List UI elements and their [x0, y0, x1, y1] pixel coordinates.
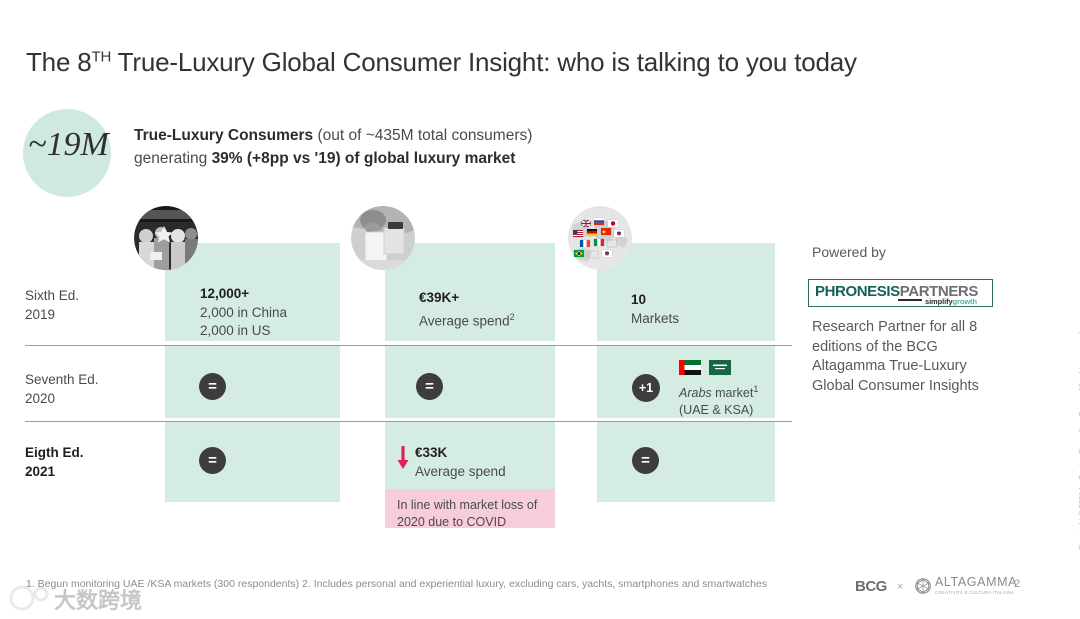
- cell-subline-1: Average spend: [415, 464, 506, 479]
- cell-subline-1: 2,000 in China: [200, 305, 287, 320]
- altagamma-logo: ALTAGAMMA CREATIVITÀ E CULTURA ITALIANA: [915, 576, 1017, 595]
- hero-line-1: True-Luxury Consumers (out of ~435M tota…: [134, 124, 694, 147]
- row-label-seventh-edition: Seventh Ed. 2020: [25, 370, 160, 408]
- cell-r1c2-average-spend: €39K+ Average spend2: [419, 289, 515, 331]
- hero-line-2-bold: 39% (+8pp vs '19) of global luxury marke…: [212, 150, 516, 167]
- arabs-countries: (UAE & KSA): [679, 402, 758, 419]
- page-title: The 8TH True-Luxury Global Consumer Insi…: [26, 47, 857, 78]
- row-label-line2: 2021: [25, 462, 160, 481]
- hero-value: ~19M: [6, 126, 131, 164]
- cell-subline-2: 2,000 in US: [200, 323, 271, 338]
- shopping-bags-photo-icon: [351, 206, 415, 270]
- hero-line-1-rest: (out of ~435M total consumers): [313, 127, 532, 144]
- equal-badge-r2c2: =: [416, 373, 443, 400]
- arabs-word: Arabs: [679, 386, 712, 400]
- row-label-sixth-edition: Sixth Ed. 2019: [25, 286, 160, 324]
- cell-block-r2c2: [385, 345, 555, 418]
- cell-r3c2-average-spend: €33K Average spend: [415, 444, 506, 481]
- footnote-marker: 2: [510, 312, 515, 322]
- tagline-simplify: simplify: [925, 297, 953, 306]
- page-number: 2: [1014, 578, 1020, 590]
- slide-root: The 8TH True-Luxury Global Consumer Insi…: [0, 0, 1080, 616]
- people-photo-icon: [134, 206, 198, 270]
- hero-line-1-bold: True-Luxury Consumers: [134, 127, 313, 144]
- row-label-line1: Eigth Ed.: [25, 443, 160, 462]
- bcg-logo: BCG: [855, 578, 887, 595]
- row-label-eigth-edition: Eigth Ed. 2021: [25, 443, 160, 481]
- cell-headline: €39K+: [419, 289, 515, 308]
- uae-flag-icon: [679, 360, 701, 375]
- logo-separator-icon: ×: [897, 581, 903, 593]
- covid-note-box: In line with market loss of 2020 due to …: [385, 489, 555, 528]
- ksa-flag-icon: [709, 360, 731, 375]
- cell-r1c3-markets: 10 Markets: [631, 291, 679, 328]
- phronesis-logo-rule: [898, 299, 922, 301]
- arabs-market-flags: [679, 360, 731, 375]
- cell-r1c1-respondents: 12,000+ 2,000 in China 2,000 in US: [200, 285, 287, 341]
- plus-one-badge-r2c3: +1: [632, 374, 660, 402]
- cell-headline: €33K: [415, 444, 506, 463]
- equal-badge-r3c3: =: [632, 447, 659, 474]
- research-partner-description: Research Partner for all 8 editions of t…: [812, 318, 1012, 396]
- equal-badge-r3c1: =: [199, 447, 226, 474]
- down-arrow-icon: [396, 446, 410, 470]
- watermark-text: 大数跨境: [54, 588, 142, 614]
- title-prefix: The 8: [26, 47, 92, 77]
- footnote-marker: 1: [753, 384, 758, 394]
- cell-block-r3c1: [165, 422, 340, 502]
- title-rest: True-Luxury Global Consumer Insight: who…: [111, 47, 857, 77]
- tagline-growth: growth: [953, 297, 977, 306]
- row-divider-1: [25, 345, 792, 346]
- equal-badge-r2c1: =: [199, 373, 226, 400]
- phronesis-tagline: simplifygrowth: [925, 297, 977, 306]
- altagamma-name: ALTAGAMMA: [935, 576, 1017, 589]
- cell-headline: 10: [631, 291, 679, 310]
- hero-description: True-Luxury Consumers (out of ~435M tota…: [134, 124, 694, 170]
- hero-line-2-pre: generating: [134, 150, 212, 167]
- cell-headline: 12,000+: [200, 285, 287, 304]
- title-ordinal-suffix: TH: [92, 48, 112, 65]
- phronesis-word: PHRONESIS: [815, 283, 900, 300]
- cell-block-r3c3: [597, 422, 775, 502]
- row-label-line2: 2020: [25, 389, 160, 408]
- altagamma-mark-icon: [915, 578, 931, 594]
- row-label-line2: 2019: [25, 305, 160, 324]
- altagamma-subtitle: CREATIVITÀ E CULTURA ITALIANA: [935, 591, 1017, 596]
- cell-subline-1: Average spend: [419, 313, 510, 328]
- cell-subline-1: Markets: [631, 311, 679, 326]
- world-flags-photo-icon: [568, 206, 632, 270]
- powered-by-label: Powered by: [812, 244, 886, 260]
- row-label-line1: Seventh Ed.: [25, 370, 160, 389]
- row-label-line1: Sixth Ed.: [25, 286, 160, 305]
- watermark: 大数跨境: [6, 580, 166, 614]
- hero-line-2: generating 39% (+8pp vs '19) of global l…: [134, 147, 694, 170]
- cell-block-r2c1: [165, 345, 340, 418]
- arabs-market-label: Arabs market1 (UAE & KSA): [679, 381, 758, 419]
- row-divider-2: [25, 421, 792, 422]
- market-word: market: [712, 386, 754, 400]
